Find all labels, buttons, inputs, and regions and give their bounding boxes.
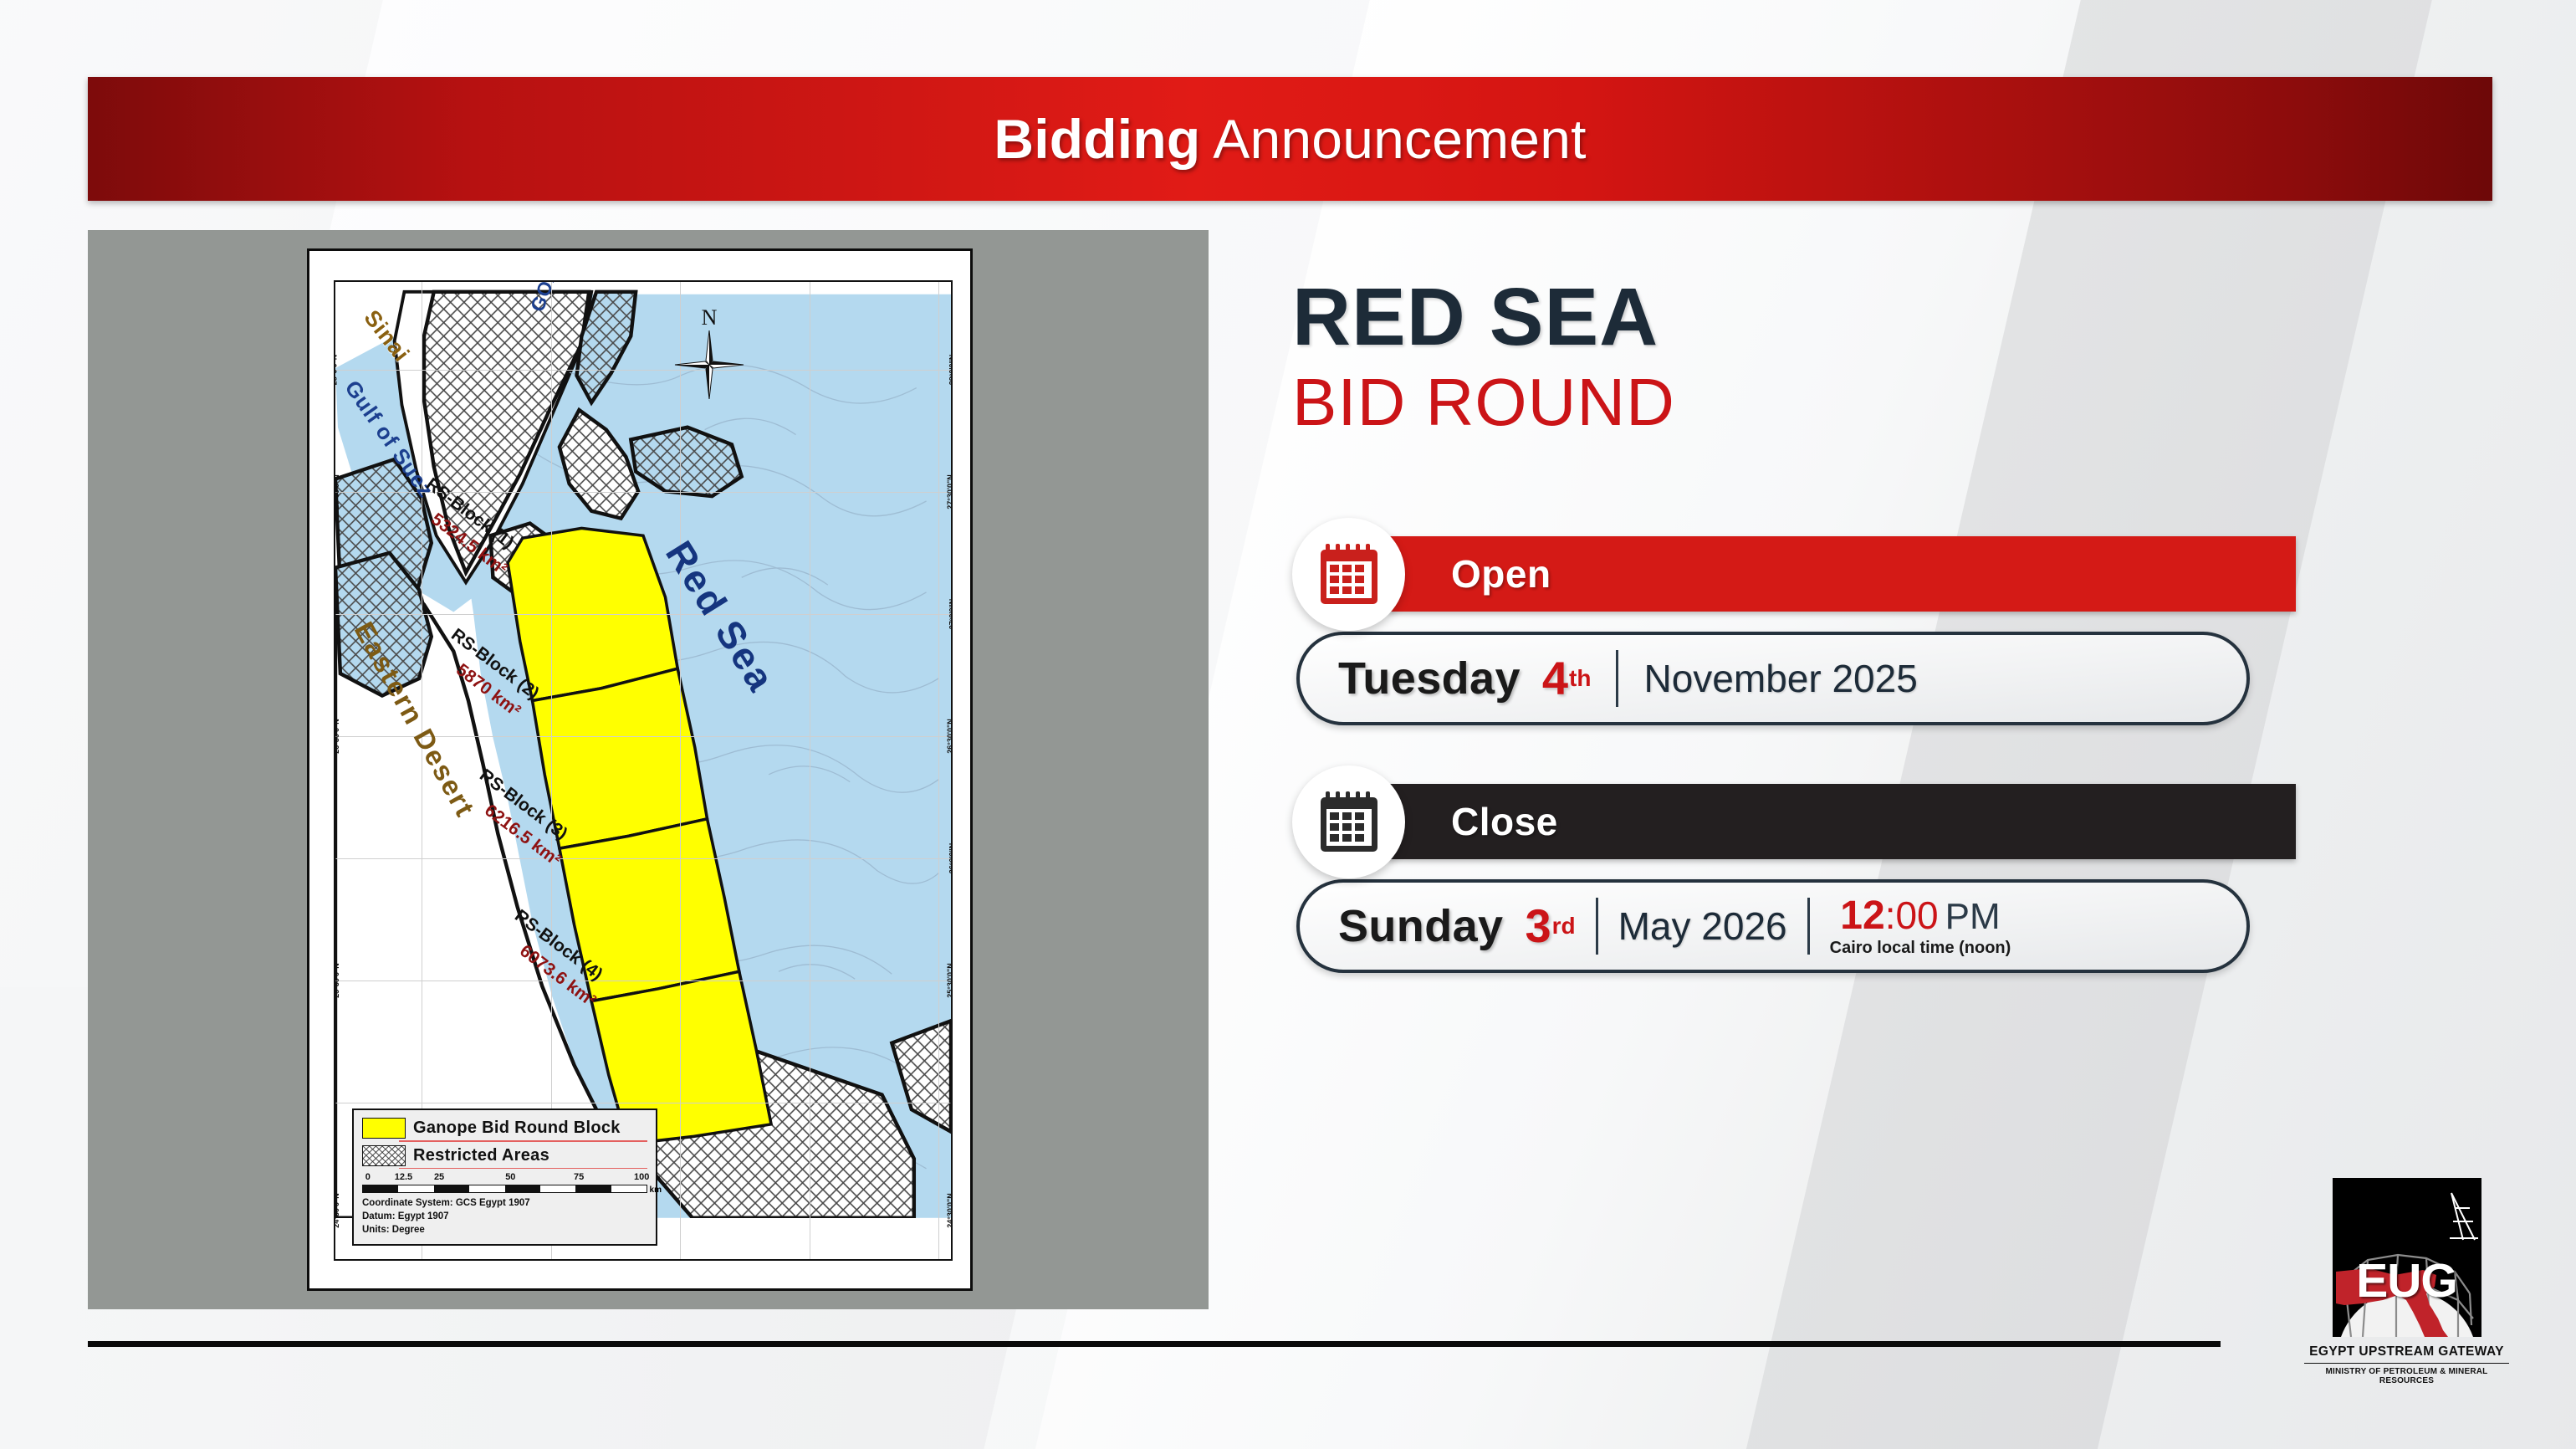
legend-swatch-yellow (362, 1118, 406, 1139)
legend-item-block: Ganope Bid Round Block (362, 1118, 647, 1139)
scale-unit-label: km (650, 1185, 662, 1195)
header-banner: Bidding Announcement (88, 77, 2492, 201)
map-latitude-label: 24°30'0"N (334, 1193, 340, 1228)
close-time-meridiem: PM (1945, 896, 2001, 937)
map-latitude-label: 26°0'0"N (334, 843, 338, 874)
map-latitude-label: 26°30'0"N (334, 719, 340, 754)
map-latitude-label: 27°30'0"N (334, 474, 340, 509)
map-latitude-label: 28°0'0"N (334, 355, 338, 386)
legend-swatch-hatch (362, 1145, 406, 1166)
close-weekday: Sunday (1338, 900, 1503, 952)
legend-divider (399, 1140, 647, 1142)
close-date-pill: Sunday 3rd May 2026 12:00PM Cairo local … (1296, 879, 2250, 973)
map-meta: Coordinate System: GCS Egypt 1907 Datum:… (362, 1197, 647, 1237)
close-time-group: 12:00PM Cairo local time (noon) (1830, 896, 2011, 956)
scale-tick-0: 0 (365, 1172, 371, 1182)
open-label: Open (1451, 551, 1551, 596)
open-day-number: 4 (1542, 651, 1568, 705)
map-latitude-label: 27°30'0"N (946, 474, 953, 509)
schedule-close: Close Sunday 3rd May 2026 (1292, 784, 2296, 973)
map-panel: Sinai Gulf of Suez GOA Red Sea Eastern D… (88, 230, 1209, 1309)
map-gridline-v (938, 282, 939, 1259)
map-latitude-label: 25°0'0"N (948, 1088, 953, 1119)
map-gridline-h (335, 858, 951, 859)
page-title: RED SEA (1292, 276, 2296, 359)
map-latitude-label: 25°0'0"N (334, 1088, 338, 1119)
eug-logo-mark-icon: EUG (2333, 1178, 2481, 1337)
footer-divider (88, 1341, 2221, 1347)
map-latitude-label: 28°0'0"N (948, 355, 953, 386)
announcement-content: RED SEA BID ROUND Open Tue (1292, 276, 2296, 973)
close-pill-divider-2 (1807, 898, 1810, 955)
open-day-ordinal: th (1569, 665, 1591, 692)
compass-north-label: N (702, 305, 718, 330)
legend-item-restricted: Restricted Areas (362, 1145, 647, 1166)
close-time-note: Cairo local time (noon) (1830, 940, 2011, 956)
scale-tick-1: 12.5 (395, 1172, 412, 1182)
close-time-hour: 12 (1840, 893, 1884, 938)
map-legend: Ganope Bid Round Block Restricted Areas (352, 1109, 657, 1246)
close-header-bar: Close (1388, 784, 2296, 859)
map-scale-bar: 0 12.5 25 50 75 100 (362, 1172, 647, 1193)
legend-label-block: Ganope Bid Round Block (413, 1119, 621, 1138)
compass-star-icon (673, 329, 745, 401)
logo-org-name: EGYPT UPSTREAM GATEWAY (2304, 1344, 2509, 1359)
close-day-number: 3 (1525, 899, 1551, 953)
scale-tick-4: 75 (574, 1172, 584, 1182)
map-gridline-v (680, 282, 681, 1259)
close-time-minutes: :00 (1885, 893, 1939, 937)
close-pill-divider-1 (1596, 898, 1598, 955)
calendar-icon (1292, 765, 1405, 878)
banner-title: Bidding Announcement (994, 107, 1586, 171)
scale-tick-5: 100 (634, 1172, 649, 1182)
legend-divider-2 (399, 1168, 647, 1170)
map-meta-coord-system: Coordinate System: GCS Egypt 1907 (362, 1197, 647, 1211)
map-latitude-label: 25°30'0"N (946, 963, 953, 998)
map-latitude-label: 24°30'0"N (946, 1193, 953, 1228)
close-label: Close (1451, 799, 1558, 844)
map-gridline-v (810, 282, 810, 1259)
banner-title-bold: Bidding (994, 108, 1200, 170)
scale-tick-3: 50 (505, 1172, 515, 1182)
open-date-pill: Tuesday 4th November 2025 (1296, 632, 2250, 725)
scale-bar-segments: km (362, 1185, 647, 1193)
open-month-year: November 2025 (1643, 656, 1917, 701)
map-meta-datum: Datum: Egypt 1907 (362, 1211, 647, 1224)
map-latitude-label: 27°0'0"N (334, 599, 338, 630)
eug-logo-text: EUG (2333, 1253, 2481, 1308)
map-canvas: Sinai Gulf of Suez GOA Red Sea Eastern D… (334, 280, 953, 1261)
close-time-line: 12:00PM (1840, 896, 2000, 936)
map-frame: Sinai Gulf of Suez GOA Red Sea Eastern D… (309, 251, 970, 1288)
map-gridline-h (335, 1103, 951, 1103)
banner-title-regular: Announcement (1200, 108, 1586, 170)
calendar-icon (1292, 518, 1405, 631)
map-gridline-h (335, 981, 951, 981)
calendar-icon-glyph (1318, 789, 1380, 854)
page-subtitle: BID ROUND (1292, 367, 2296, 438)
close-day-ordinal: rd (1552, 913, 1576, 940)
legend-label-restricted: Restricted Areas (413, 1146, 549, 1165)
organization-logo: EUG EGYPT UPSTREAM GATEWAY MINISTRY OF P… (2304, 1178, 2509, 1385)
map-latitude-label: 27°0'0"N (948, 599, 953, 630)
map-gridline-h (335, 614, 951, 615)
open-pill-divider (1616, 650, 1618, 707)
calendar-icon-glyph (1318, 541, 1380, 607)
compass-rose-icon: N (673, 307, 745, 399)
open-header-bar: Open (1388, 536, 2296, 612)
schedule-open: Open Tuesday 4th November 2 (1292, 536, 2296, 725)
scale-tick-labels: 0 12.5 25 50 75 100 (362, 1172, 647, 1184)
logo-org-subtitle: MINISTRY OF PETROLEUM & MINERAL RESOURCE… (2304, 1363, 2509, 1385)
map-gridline-h (335, 370, 951, 371)
map-latitude-label: 26°0'0"N (948, 843, 953, 874)
map-latitude-label: 25°30'0"N (334, 963, 340, 998)
map-latitude-label: 26°30'0"N (946, 719, 953, 754)
hatch-pattern-icon (363, 1146, 405, 1165)
scale-tick-2: 25 (434, 1172, 444, 1182)
map-meta-units: Units: Degree (362, 1224, 647, 1237)
open-weekday: Tuesday (1338, 653, 1521, 704)
close-month-year: May 2026 (1618, 904, 1787, 949)
